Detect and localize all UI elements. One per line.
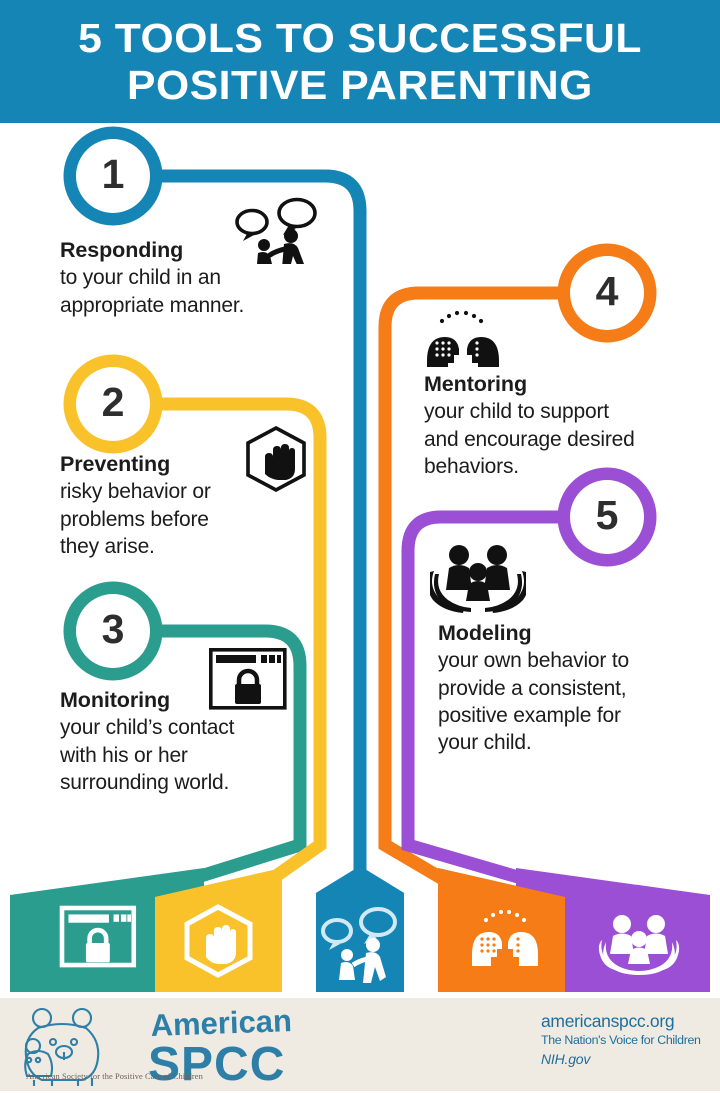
hands-family-icon — [430, 538, 526, 614]
step-body-2-line-2: problems before — [60, 506, 300, 533]
step-body-5-line-1: your own behavior to — [438, 647, 698, 674]
page-footer: American SPCC American Society for the P… — [0, 998, 720, 1091]
step-badge-4[interactable]: 4 — [570, 256, 644, 330]
step-body-5-line-4: your child. — [438, 729, 698, 756]
step-body-3-line-2: with his or her — [60, 742, 310, 769]
step-title-5: Modeling — [438, 621, 698, 646]
step-body-4-line-3: behaviors. — [424, 453, 684, 480]
step-title-4: Mentoring — [424, 372, 684, 397]
step-body-4-line-2: and encourage desired — [424, 426, 684, 453]
banner-column-modeling — [516, 868, 710, 992]
step-body-3-line-3: surrounding world. — [60, 769, 310, 796]
step-number-4: 4 — [596, 271, 619, 312]
footer-slogan: The Nation's Voice for Children — [541, 1033, 701, 1049]
step-badge-2[interactable]: 2 — [76, 367, 150, 441]
browser-lock-icon — [209, 648, 287, 710]
american-spcc-logo[interactable]: American SPCC American Society for the P… — [8, 1002, 348, 1088]
step-badge-5[interactable]: 5 — [570, 480, 644, 554]
svg-text:American: American — [150, 1003, 292, 1043]
step-body-2-line-3: they arise. — [60, 533, 300, 560]
step-body-5-line-3: positive example for — [438, 702, 698, 729]
step-number-2: 2 — [102, 382, 125, 423]
infographic-root: 5 TOOLS TO SUCCESSFUL POSITIVE PARENTING — [0, 0, 720, 1091]
step-body-5-line-2: provide a consistent, — [438, 675, 698, 702]
banner-column-responding — [316, 866, 404, 992]
step-body-1-line-2: appropriate manner. — [60, 292, 310, 319]
step-badge-1[interactable]: 1 — [76, 139, 150, 213]
footer-contact: americanspcc.org The Nation's Voice for … — [541, 1012, 701, 1067]
stop-hand-icon — [242, 425, 310, 493]
step-number-5: 5 — [596, 495, 619, 536]
step-badge-3[interactable]: 3 — [76, 594, 150, 668]
step-number-3: 3 — [102, 609, 125, 650]
parent-child-talking-icon — [234, 196, 324, 264]
step-text-5: Modeling your own behavior to provide a … — [438, 621, 698, 757]
step-body-3-line-1: your child’s contact — [60, 714, 310, 741]
step-body-4-line-1: your child to support — [424, 398, 684, 425]
step-body-1-line-1: to your child in an — [60, 264, 310, 291]
footer-website[interactable]: americanspcc.org — [541, 1012, 701, 1032]
footer-source[interactable]: NIH.gov — [541, 1051, 701, 1067]
step-text-4: Mentoring your child to support and enco… — [424, 372, 684, 480]
two-heads-icon — [424, 305, 502, 367]
step-number-1: 1 — [102, 154, 125, 195]
logo-tagline: American Society for the Positive Care o… — [26, 1072, 203, 1081]
